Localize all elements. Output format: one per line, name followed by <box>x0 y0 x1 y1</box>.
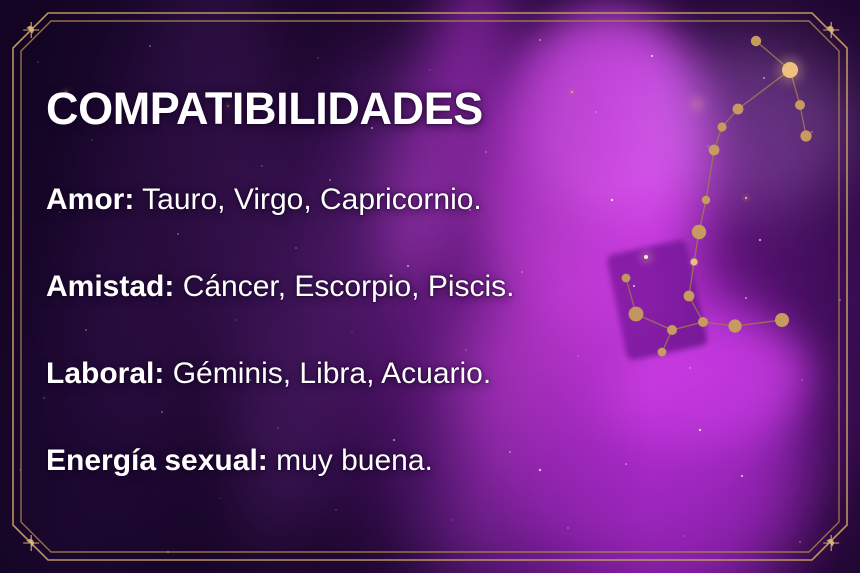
compat-row-energia-sexual: Energía sexual: muy buena. <box>46 446 836 476</box>
compat-row-amor: Amor: Tauro, Virgo, Capricornio. <box>46 185 836 215</box>
compat-value-energia-sexual: muy buena. <box>276 444 433 477</box>
page-title: COMPATIBILIDADES <box>46 86 836 131</box>
compat-label-laboral: Laboral: <box>46 357 164 390</box>
horoscope-compatibility-card: COMPATIBILIDADES Amor: Tauro, Virgo, Cap… <box>0 0 860 573</box>
compat-label-energia-sexual: Energía sexual: <box>46 444 268 477</box>
compat-label-amor: Amor: <box>46 183 134 216</box>
card-content: COMPATIBILIDADES Amor: Tauro, Virgo, Cap… <box>46 86 836 476</box>
compat-value-amor: Tauro, Virgo, Capricornio. <box>142 183 482 216</box>
compat-value-laboral: Géminis, Libra, Acuario. <box>173 357 491 390</box>
compat-value-amistad: Cáncer, Escorpio, Piscis. <box>183 270 515 303</box>
compat-row-laboral: Laboral: Géminis, Libra, Acuario. <box>46 359 836 389</box>
compat-label-amistad: Amistad: <box>46 270 174 303</box>
compat-row-amistad: Amistad: Cáncer, Escorpio, Piscis. <box>46 272 836 302</box>
